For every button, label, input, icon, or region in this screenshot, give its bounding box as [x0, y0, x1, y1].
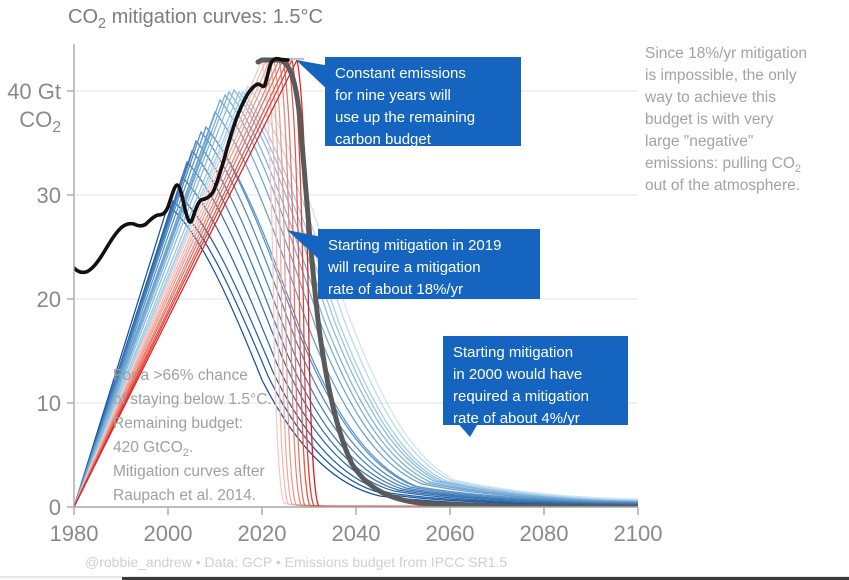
- callout-mitigation-2019[interactable]: Starting mitigation in 2019 will require…: [287, 229, 540, 299]
- budget-note-line-6: Raupach et al. 2014.: [113, 487, 256, 504]
- callout-line-4: carbon budget: [335, 131, 432, 148]
- side-line-3: way to achieve this: [644, 89, 776, 106]
- x-tick-label-2040: 2040: [332, 521, 381, 546]
- y-tick-label-0: 0: [49, 495, 61, 520]
- budget-note-line-5: Mitigation curves after: [113, 463, 265, 480]
- side-explanation: Since 18%/yr mitigation is impossible, t…: [644, 45, 807, 194]
- y-tick-label-30: 30: [37, 183, 61, 208]
- callout-line-2: in 2000 would have: [453, 366, 582, 383]
- x-axis-ticks: [74, 507, 638, 515]
- x-tick-label-2000: 2000: [144, 521, 193, 546]
- y-tick-label-40: 40 Gt: [7, 79, 61, 104]
- x-tick-label-2020: 2020: [238, 521, 287, 546]
- callout-line-1: Starting mitigation in 2019: [328, 237, 501, 254]
- x-axis-tick-labels: 1980 2000 2020 2040 2060 2080 2100: [50, 521, 663, 546]
- x-tick-label-2060: 2060: [426, 521, 475, 546]
- y-axis-ticks: [67, 91, 74, 507]
- x-tick-label-2100: 2100: [614, 521, 663, 546]
- x-tick-label-1980: 1980: [50, 521, 99, 546]
- y-tick-label-20: 20: [37, 287, 61, 312]
- side-line-1: Since 18%/yr mitigation: [645, 45, 807, 62]
- y-axis-tick-labels: 40 Gt CO2 30 20 10 0: [7, 79, 61, 520]
- budget-note: For a >66% chance of staying below 1.5°C…: [113, 367, 272, 504]
- callout-mitigation-2000[interactable]: Starting mitigation in 2000 would have r…: [443, 336, 628, 437]
- side-line-4: budget is with very: [645, 111, 774, 128]
- side-line-2: is impossible, the only: [645, 67, 797, 84]
- x-tick-label-2080: 2080: [520, 521, 569, 546]
- callout-pointer-icon: [296, 60, 330, 92]
- budget-note-line-3: Remaining budget:: [113, 415, 243, 432]
- side-line-6: emissions: pulling CO2: [645, 155, 801, 175]
- callout-line-2: for nine years will: [335, 87, 451, 104]
- co2-mitigation-chart: CO2 mitigation curves: 1.5°C: [0, 0, 849, 580]
- side-line-5: large "negative": [645, 133, 753, 150]
- page-title: CO2 mitigation curves: 1.5°C: [68, 6, 323, 32]
- side-line-7: out of the atmosphere.: [645, 177, 800, 194]
- callout-line-3: rate of about 18%/yr: [328, 281, 463, 298]
- callout-line-3: required a mitigation: [453, 388, 589, 405]
- budget-note-line-1: For a >66% chance: [113, 367, 248, 384]
- budget-note-line-2: of staying below 1.5°C.: [113, 391, 272, 408]
- callout-line-1: Constant emissions: [335, 65, 466, 82]
- callout-line-4: rate of about 4%/yr: [453, 410, 580, 427]
- y-axis-unit-co2: CO2: [19, 107, 61, 136]
- callout-constant-emissions[interactable]: Constant emissions for nine years will u…: [296, 57, 521, 148]
- callout-line-2: will require a mitigation: [327, 259, 481, 276]
- callout-line-1: Starting mitigation: [453, 344, 573, 361]
- callout-line-3: use up the remaining: [335, 109, 475, 126]
- y-tick-label-10: 10: [37, 391, 61, 416]
- footer-credit: @robbie_andrew • Data: GCP • Emissions b…: [85, 554, 507, 570]
- budget-note-line-4: 420 GtCO2.: [113, 439, 193, 459]
